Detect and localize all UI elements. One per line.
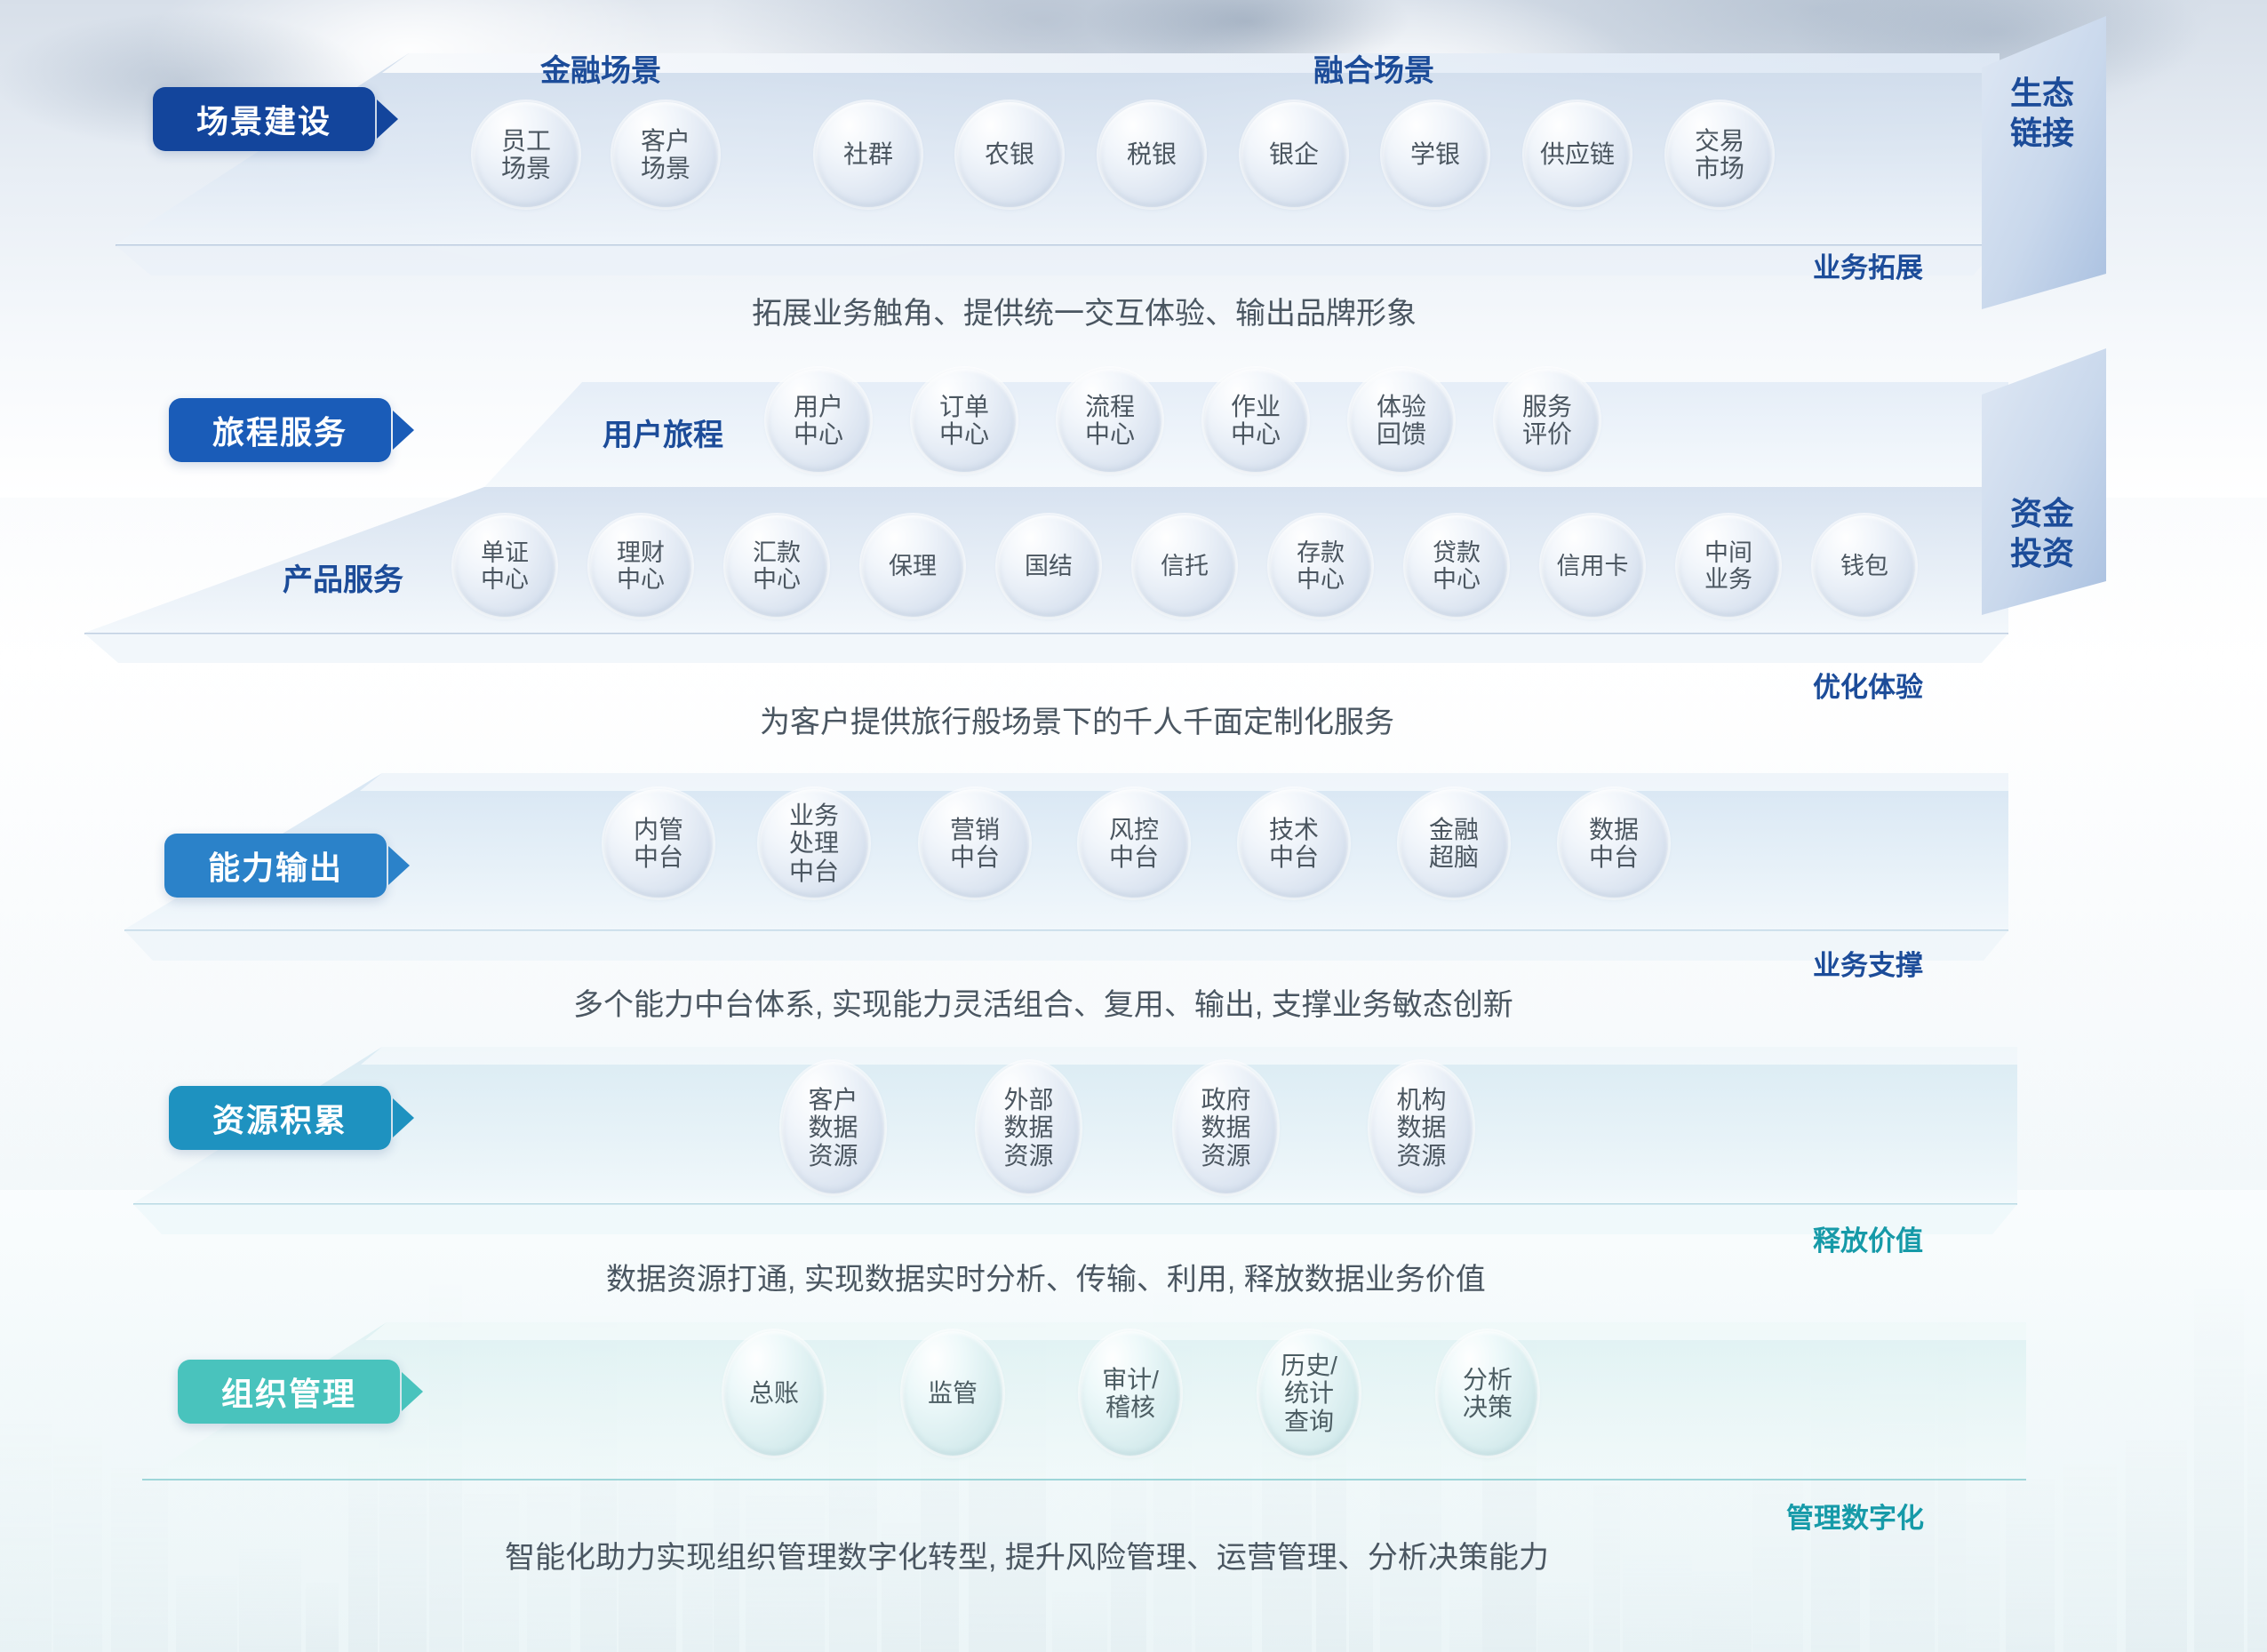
node-product-5[interactable]: 信托 (1134, 515, 1235, 617)
node-journey-5[interactable]: 服务评价 (1496, 369, 1599, 472)
node-product-2[interactable]: 汇款中心 (726, 515, 827, 617)
node-journey-4[interactable]: 体验回馈 (1350, 369, 1453, 472)
node-product-4[interactable]: 国结 (998, 515, 1099, 617)
node-capability-4[interactable]: 技术中台 (1240, 789, 1348, 898)
stage-pill-capability[interactable]: 能力输出 (164, 834, 387, 898)
node-product-9[interactable]: 中间业务 (1678, 515, 1779, 617)
stage-pill-journey-tail (393, 411, 414, 450)
group-label-fusion-scene: 融合场景 (1313, 46, 1434, 90)
node-scene-2[interactable]: 社群 (816, 102, 921, 207)
caption-journey: 为客户提供旅行般场景下的千人千面定制化服务 (760, 698, 1394, 741)
node-scene-8[interactable]: 交易市场 (1667, 102, 1772, 207)
caption-scene: 拓展业务触角、提供统一交互体验、输出品牌形象 (752, 289, 1417, 332)
node-scene-3[interactable]: 农银 (957, 102, 1062, 207)
stage-pill-organization[interactable]: 组织管理 (178, 1360, 400, 1424)
node-scene-5[interactable]: 银企 (1241, 102, 1346, 207)
side-banner-funding (1982, 348, 2106, 619)
edge-label-optimize-experience: 优化体验 (1813, 671, 1923, 706)
node-journey-3[interactable]: 作业中心 (1204, 369, 1307, 472)
stage-pill-scene-label: 场景建设 (196, 96, 331, 142)
node-organization-3[interactable]: 历史/统计查询 (1259, 1331, 1359, 1456)
node-product-7[interactable]: 贷款中心 (1406, 515, 1507, 617)
edge-label-management-digitization: 管理数字化 (1786, 1502, 1924, 1536)
stage-pill-resource-tail (393, 1098, 414, 1137)
node-journey-1[interactable]: 订单中心 (913, 369, 1016, 472)
node-scene-7[interactable]: 供应链 (1525, 102, 1630, 207)
edge-label-business-expansion: 业务拓展 (1813, 251, 1923, 286)
stage-pill-capability-label: 能力输出 (208, 842, 343, 889)
node-resource-1[interactable]: 外部数据资源 (978, 1062, 1080, 1193)
stage-pill-organization-tail (402, 1372, 423, 1411)
node-capability-1[interactable]: 业务处理中台 (760, 789, 868, 898)
node-organization-1[interactable]: 监管 (903, 1331, 1002, 1456)
node-organization-4[interactable]: 分析决策 (1438, 1331, 1537, 1456)
node-scene-0[interactable]: 员工场景 (474, 102, 579, 207)
caption-capability: 多个能力中台体系, 实现能力灵活组合、复用、输出, 支撑业务敏态创新 (573, 980, 1513, 1024)
node-scene-1[interactable]: 客户场景 (613, 102, 718, 207)
stage-pill-journey-label: 旅程服务 (212, 407, 347, 453)
stage-pill-resource-label: 资源积累 (212, 1095, 347, 1141)
node-product-8[interactable]: 信用卡 (1542, 515, 1643, 617)
node-resource-2[interactable]: 政府数据资源 (1175, 1062, 1277, 1193)
node-resource-3[interactable]: 机构数据资源 (1370, 1062, 1473, 1193)
node-journey-2[interactable]: 流程中心 (1058, 369, 1161, 472)
stage-pill-scene-tail (377, 100, 398, 139)
node-capability-5[interactable]: 金融超脑 (1400, 789, 1508, 898)
group-label-financial-scene: 金融场景 (540, 46, 661, 90)
stage-pill-organization-label: 组织管理 (221, 1369, 356, 1415)
edge-label-business-support: 业务支撑 (1813, 949, 1923, 984)
node-journey-0[interactable]: 用户中心 (767, 369, 870, 472)
node-capability-3[interactable]: 风控中台 (1080, 789, 1188, 898)
caption-resource: 数据资源打通, 实现数据实时分析、传输、利用, 释放数据业务价值 (606, 1255, 1486, 1298)
edge-label-release-value: 释放价值 (1813, 1225, 1923, 1259)
node-organization-2[interactable]: 审计/稽核 (1081, 1331, 1180, 1456)
node-capability-2[interactable]: 营销中台 (921, 789, 1029, 898)
stage-pill-capability-tail (388, 846, 410, 885)
node-product-6[interactable]: 存款中心 (1270, 515, 1371, 617)
caption-organization: 智能化助力实现组织管理数字化转型, 提升风险管理、运营管理、分析决策能力 (505, 1533, 1549, 1576)
node-product-0[interactable]: 单证中心 (454, 515, 555, 617)
side-banner-ecosystem (1982, 16, 2106, 314)
side-label-fund-investment: 资金投资 (2010, 493, 2074, 573)
side-label-ecosystem-link: 生态链接 (2010, 73, 2074, 153)
node-scene-4[interactable]: 税银 (1099, 102, 1204, 207)
stage-pill-resource[interactable]: 资源积累 (169, 1086, 391, 1150)
stage-pill-journey[interactable]: 旅程服务 (169, 398, 391, 462)
node-capability-0[interactable]: 内管中台 (604, 789, 713, 898)
node-product-3[interactable]: 保理 (862, 515, 963, 617)
node-product-1[interactable]: 理财中心 (590, 515, 691, 617)
node-resource-0[interactable]: 客户数据资源 (782, 1062, 884, 1193)
stage-pill-scene[interactable]: 场景建设 (153, 87, 375, 151)
node-organization-0[interactable]: 总账 (724, 1331, 824, 1456)
node-scene-6[interactable]: 学银 (1383, 102, 1488, 207)
group-label-user-journey: 用户旅程 (603, 411, 723, 454)
group-label-product-service: 产品服务 (283, 555, 403, 599)
node-capability-6[interactable]: 数据中台 (1560, 789, 1668, 898)
node-product-10[interactable]: 钱包 (1814, 515, 1915, 617)
